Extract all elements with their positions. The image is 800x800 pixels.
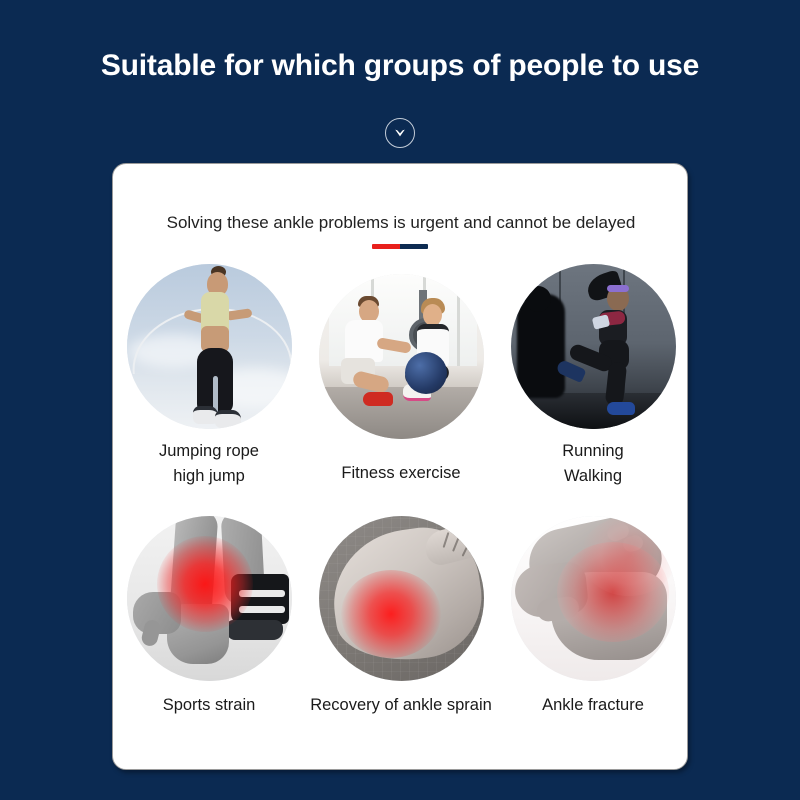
page-title: Suitable for which groups of people to u… <box>0 48 800 84</box>
tile-caption: Jumping rope high jump <box>159 439 259 489</box>
ankle-sprain-photo <box>319 516 484 681</box>
ankle-fracture-photo <box>511 516 676 681</box>
sports-strain-photo <box>127 516 292 681</box>
header: Suitable for which groups of people to u… <box>0 48 800 84</box>
divider-segment-navy <box>400 244 428 249</box>
tile-caption: Sports strain <box>163 693 256 718</box>
tile-ankle-fracture[interactable]: Ankle fracture <box>497 516 688 718</box>
page-root: Suitable for which groups of people to u… <box>0 0 800 800</box>
jumping-rope-photo <box>127 264 292 429</box>
tile-sports-strain[interactable]: Sports strain <box>113 516 305 718</box>
tile-ankle-sprain[interactable]: Recovery of ankle sprain <box>305 516 497 718</box>
tile-caption: Fitness exercise <box>341 461 460 486</box>
tile-row-1: Jumping rope high jump <box>113 264 688 489</box>
chevron-down-circle-icon <box>385 118 415 148</box>
accent-divider <box>372 244 428 249</box>
tile-running-walking[interactable]: Running Walking <box>497 264 688 489</box>
tile-caption: Ankle fracture <box>542 693 644 718</box>
tile-fitness-exercise[interactable]: Fitness exercise <box>305 264 497 486</box>
running-walking-photo <box>511 264 676 429</box>
fitness-exercise-photo <box>319 274 484 439</box>
divider-segment-red <box>372 244 400 249</box>
tile-jumping-rope[interactable]: Jumping rope high jump <box>113 264 305 489</box>
tile-caption: Recovery of ankle sprain <box>310 693 492 718</box>
content-card: Solving these ankle problems is urgent a… <box>112 163 688 770</box>
card-subtitle: Solving these ankle problems is urgent a… <box>113 212 688 234</box>
tile-row-2: Sports strain Recovery of ankle sprain <box>113 516 688 718</box>
tile-caption: Running Walking <box>562 439 623 489</box>
